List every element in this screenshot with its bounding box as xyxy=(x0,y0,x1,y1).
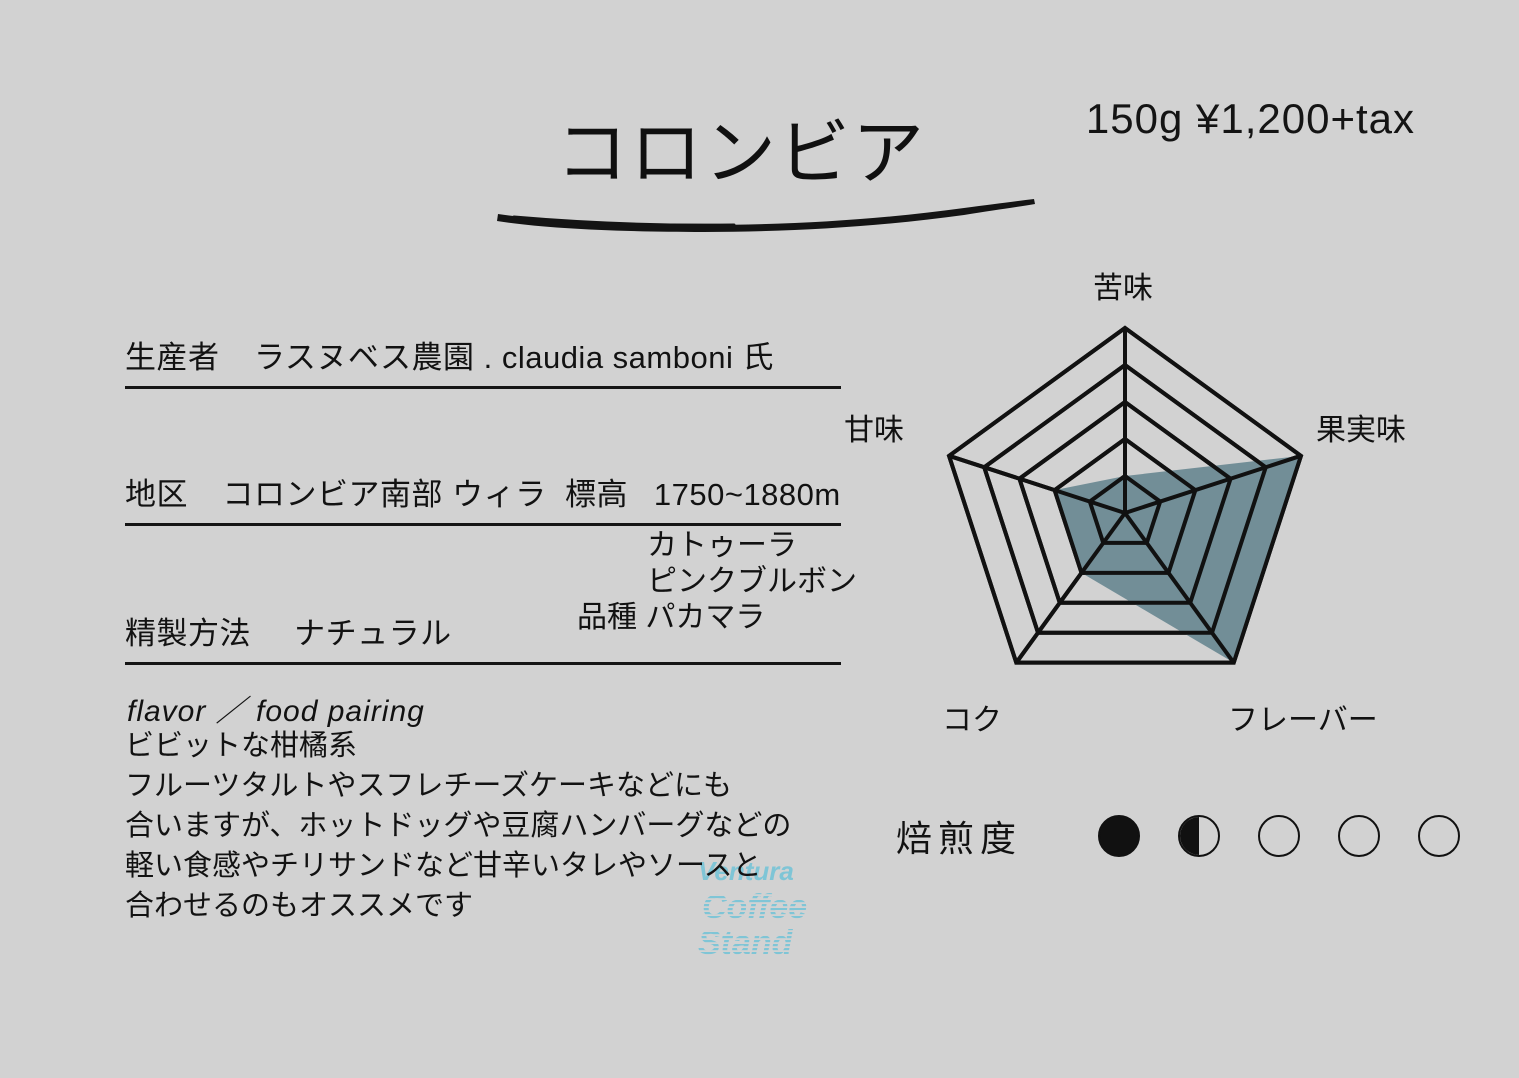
info-block: 生産者 ラスヌベス農園 . claudia samboni 氏 地区 コロンビア… xyxy=(125,336,841,665)
roast-dot-5 xyxy=(1418,815,1460,857)
region-label: 地区 xyxy=(125,477,188,512)
radar-axis-label-sweetness: 甘味 xyxy=(844,416,904,446)
altitude-label: 標高 xyxy=(565,477,628,512)
altitude-value: 1750~1880m xyxy=(654,477,841,512)
variety-item: ピンクブルボン xyxy=(647,564,857,600)
radar-axis-label-fruitiness: 果実味 xyxy=(1316,416,1406,446)
region-value: コロンビア南部 ウィラ xyxy=(222,477,546,512)
producer-value: ラスヌベス農園 . claudia samboni 氏 xyxy=(254,340,774,375)
roast-dot-3 xyxy=(1258,815,1300,857)
taste-radar-chart: 苦味 果実味 フレーバー コク 甘味 xyxy=(830,258,1450,748)
radar-axis-label-body: コク xyxy=(942,706,1002,736)
pairing-heading: flavor ／ food pairing xyxy=(127,686,425,730)
variety-item: カトゥーラ xyxy=(647,528,857,564)
info-row-process: 精製方法 ナチュラル カトゥーラ ピンクブルボン 品種 パカマラ xyxy=(125,612,841,665)
roast-level-group: 焙煎度 xyxy=(896,810,1460,862)
process-label: 精製方法 xyxy=(125,616,251,651)
variety-item: パカマラ xyxy=(645,601,765,634)
variety-group: カトゥーラ ピンクブルボン 品種 パカマラ xyxy=(577,528,857,636)
radar-svg xyxy=(830,258,1450,748)
radar-axis-label-flavor: フレーバー xyxy=(1228,706,1378,736)
price-text: 150g ¥1,200+tax xyxy=(1086,98,1415,140)
product-card: コロンビア 150g ¥1,200+tax 生産者 ラスヌベス農園 . clau… xyxy=(0,0,1519,1078)
variety-row: 品種 パカマラ xyxy=(577,600,857,636)
title-underline-brush xyxy=(494,192,1040,236)
page-title: コロンビア xyxy=(556,118,926,190)
radar-axis-label-bitterness: 苦味 xyxy=(1093,274,1153,304)
watermark-line-3: Stand xyxy=(698,924,794,962)
variety-label: 品種 xyxy=(577,601,637,634)
roast-dot-2 xyxy=(1178,815,1220,857)
roast-level-dots xyxy=(1098,815,1460,857)
info-row-producer: 生産者 ラスヌベス農園 . claudia samboni 氏 xyxy=(125,336,841,389)
roast-level-label: 焙煎度 xyxy=(896,810,1022,862)
info-row-region: 地区 コロンビア南部 ウィラ 標高 1750~1880m xyxy=(125,473,841,526)
process-value: ナチュラル xyxy=(294,616,452,651)
roast-dot-4 xyxy=(1338,815,1380,857)
producer-label: 生産者 xyxy=(125,340,220,375)
roast-dot-1 xyxy=(1098,815,1140,857)
pairing-body: ビビットな柑橘系 フルーツタルトやスフレチーズケーキなどにも 合いますが、ホット… xyxy=(125,726,791,926)
